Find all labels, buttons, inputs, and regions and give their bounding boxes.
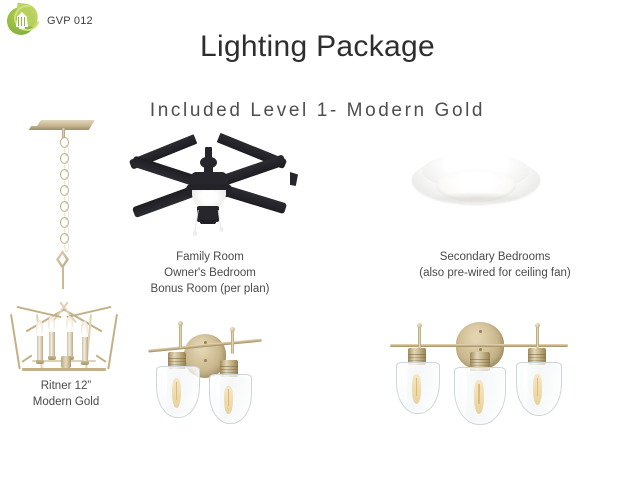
plan-code: GVP 012 bbox=[47, 15, 93, 27]
filament-bulb bbox=[474, 380, 484, 414]
filament-bulb bbox=[224, 386, 233, 414]
fan-caption: Family Room Owner's Bedroom Bonus Room (… bbox=[100, 249, 320, 297]
pull-chain-icon bbox=[218, 210, 222, 228]
fan-caption-line3: Bonus Room (per plan) bbox=[100, 281, 320, 297]
flush-caption-line1: Secondary Bedrooms bbox=[380, 249, 610, 265]
pendant-caption-line1: Ritner 12” bbox=[0, 378, 136, 394]
candle-bulbs bbox=[36, 312, 96, 370]
pendant-caption-line2: Modern Gold bbox=[0, 394, 136, 410]
page-title: Lighting Package bbox=[0, 30, 635, 64]
flush-caption-line2: (also pre-wired for ceiling fan) bbox=[380, 265, 610, 281]
filament-bulb bbox=[172, 378, 181, 408]
pendant-caption: Ritner 12” Modern Gold bbox=[0, 378, 136, 410]
ceiling-fan-icon bbox=[112, 140, 312, 235]
fan-caption-line1: Family Room bbox=[100, 249, 320, 265]
three-light-vanity-icon bbox=[386, 312, 572, 422]
filament-bulb bbox=[533, 374, 542, 405]
flush-mount-caption: Secondary Bedrooms (also pre-wired for c… bbox=[380, 249, 610, 281]
fan-caption-line2: Owner's Bedroom bbox=[100, 265, 320, 281]
chain-icon bbox=[58, 137, 69, 253]
flush-mount-light-icon bbox=[412, 152, 540, 214]
fan-blade-fragment bbox=[290, 172, 298, 186]
lighting-package-slide: GVP 012 Lighting Package Included Level … bbox=[0, 0, 635, 480]
filament-bulb bbox=[412, 374, 421, 404]
lantern-pendant-icon bbox=[8, 112, 120, 374]
two-light-vanity-icon bbox=[146, 316, 266, 420]
